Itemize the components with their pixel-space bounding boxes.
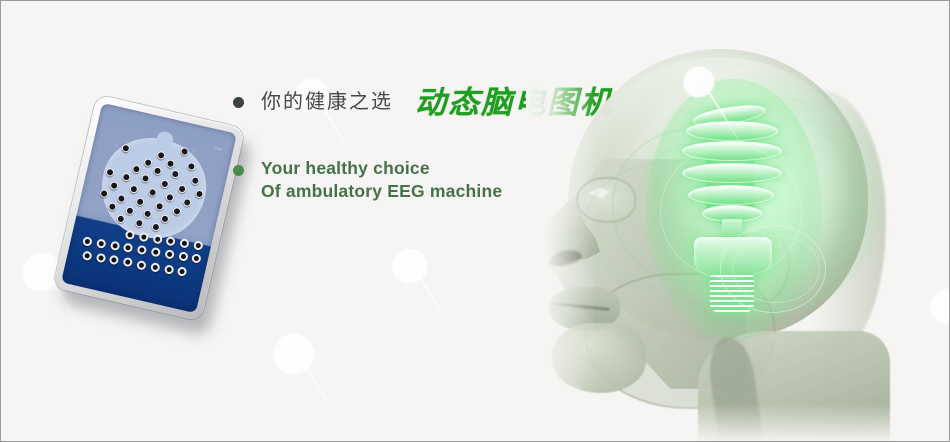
promo-banner: R L GND <box>0 0 950 442</box>
watermark-tail <box>418 274 453 328</box>
connector-socket <box>150 247 161 258</box>
bulb-coil <box>686 121 778 141</box>
device-front-panel: R L GND <box>61 103 237 313</box>
connector-socket <box>164 249 175 260</box>
magnifier-balloon-watermark <box>393 249 427 283</box>
watermark-bubble <box>274 334 314 374</box>
bulb-wire-arc <box>660 145 802 279</box>
connector-socket <box>109 255 120 266</box>
magnifier-balloon-watermark <box>274 334 314 374</box>
connector-socket <box>152 234 163 245</box>
artwork-left-fade <box>526 1 596 442</box>
artwork-bottom-fade <box>526 403 950 442</box>
chinese-subtitle: 你的健康之选 <box>261 85 393 114</box>
eeg-electrode-headbox: R L GND <box>53 94 246 321</box>
connector-socket <box>136 259 147 270</box>
connector-socket <box>137 244 148 255</box>
connector-socket <box>122 257 133 268</box>
connector-socket <box>82 236 93 247</box>
device-label-gnd: GND <box>213 147 222 152</box>
watermark-bubble <box>393 249 427 283</box>
head-artwork <box>526 1 950 442</box>
connector-socket <box>191 253 202 264</box>
cfl-spiral-bulb-icon <box>676 105 792 313</box>
connector-socket <box>193 240 204 251</box>
connector-socket <box>177 266 188 277</box>
connector-socket <box>95 253 106 264</box>
connector-socket <box>123 242 134 253</box>
connector-socket <box>166 236 177 247</box>
device-label-r: R <box>115 145 119 149</box>
connector-socket <box>163 264 174 275</box>
connector-socket <box>150 262 161 273</box>
bullet-dot-icon <box>233 165 244 176</box>
watermark-tail <box>303 363 338 417</box>
connector-socket <box>178 251 189 262</box>
connector-socket <box>82 251 93 262</box>
connector-socket <box>109 240 120 251</box>
connector-socket <box>96 238 107 249</box>
connector-socket <box>179 238 190 249</box>
device-label-l: L <box>193 149 196 153</box>
eeg-device-image: R L GND <box>59 101 255 327</box>
bullet-dot-icon <box>233 97 244 108</box>
